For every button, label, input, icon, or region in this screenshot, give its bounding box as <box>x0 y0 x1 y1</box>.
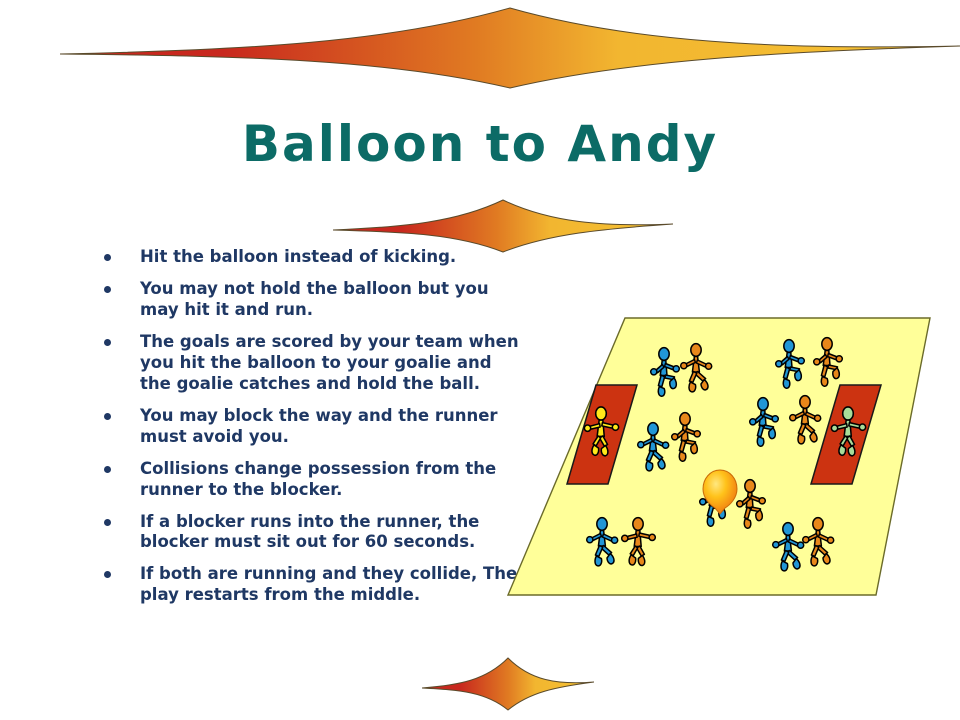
list-item-label: You may not hold the balloon but you may… <box>140 279 520 321</box>
list-item-label: You may block the way and the runner mus… <box>140 406 520 448</box>
list-item-label: If both are running and they collide, Th… <box>140 564 520 606</box>
bullet-dot-icon <box>104 339 111 346</box>
list-item-label: Collisions change possession from the ru… <box>140 459 520 501</box>
list-item: Collisions change possession from the ru… <box>100 459 520 501</box>
bullet-dot-icon <box>104 519 111 526</box>
page-title: Balloon to Andy <box>0 118 960 171</box>
bullet-dot-icon <box>104 286 111 293</box>
slide-canvas: Balloon to Andy Hit the balloon instead … <box>0 0 960 720</box>
field-surface <box>508 318 930 595</box>
playing-field-diagram <box>498 300 960 620</box>
middle-divider-star-icon <box>333 198 673 254</box>
bullet-dot-icon <box>104 571 111 578</box>
list-item: You may block the way and the runner mus… <box>100 406 520 448</box>
list-item: If both are running and they collide, Th… <box>100 564 520 606</box>
list-item-label: Hit the balloon instead of kicking. <box>140 247 520 268</box>
bullet-dot-icon <box>104 413 111 420</box>
bullet-dot-icon <box>104 466 111 473</box>
list-item-label: If a blocker runs into the runner, the b… <box>140 512 520 554</box>
bullet-list: Hit the balloon instead of kicking. You … <box>100 247 520 617</box>
bullet-dot-icon <box>104 254 111 261</box>
list-item: The goals are scored by your team when y… <box>100 332 520 395</box>
top-divider-star-icon <box>60 6 960 90</box>
list-item: Hit the balloon instead of kicking. <box>100 247 520 268</box>
list-item-label: The goals are scored by your team when y… <box>140 332 520 395</box>
list-item: If a blocker runs into the runner, the b… <box>100 512 520 554</box>
bottom-divider-star-icon <box>422 655 594 711</box>
list-item: You may not hold the balloon but you may… <box>100 279 520 321</box>
